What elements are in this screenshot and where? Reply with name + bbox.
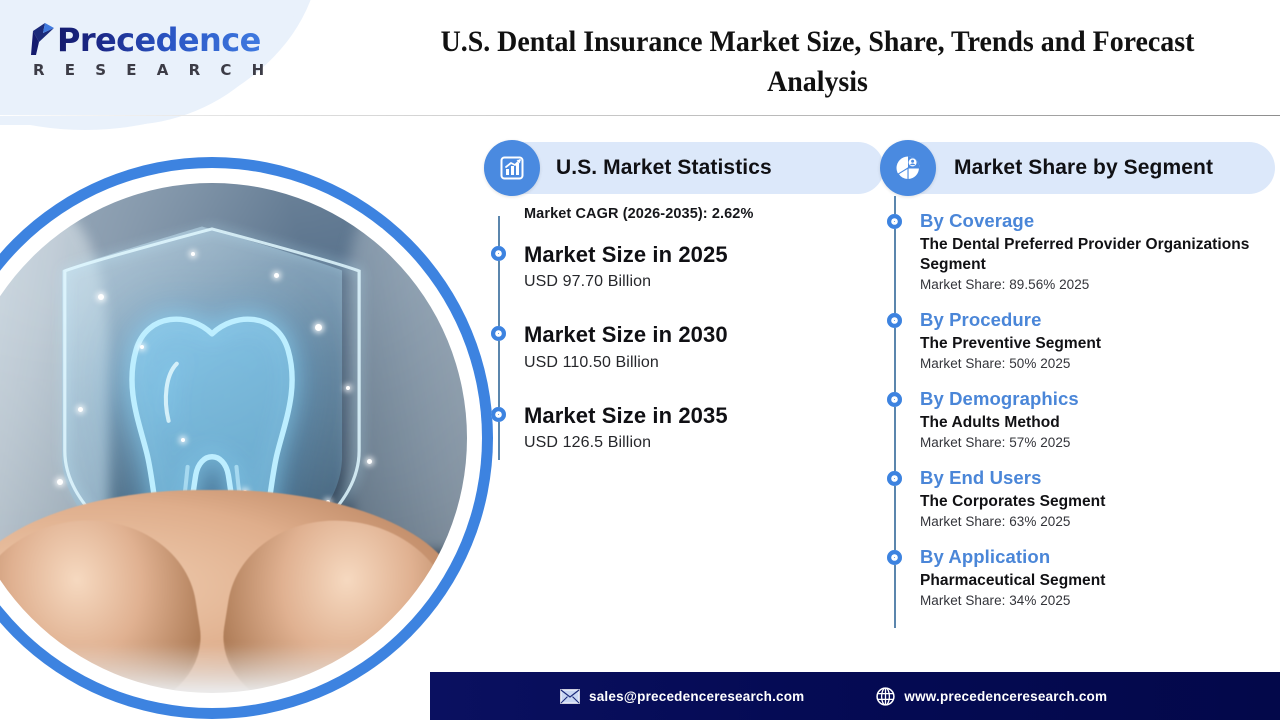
brand-logo[interactable]: Precedence R E S E A R C H xyxy=(30,22,290,79)
market-size-label: Market Size in 2025 xyxy=(524,242,884,267)
market-cagr-note: Market CAGR (2026-2035): 2.62% xyxy=(484,206,884,222)
market-statistics-header: U.S. Market Statistics xyxy=(484,142,884,194)
market-size-item: Market Size in 2035 USD 126.5 Billion xyxy=(484,403,884,452)
segment-share: Market Share: 34% 2025 xyxy=(920,593,1275,608)
footer-email-text: sales@precedenceresearch.com xyxy=(589,689,804,704)
segment-item: By Procedure The Preventive Segment Mark… xyxy=(880,309,1275,371)
bar-chart-growth-icon xyxy=(484,140,540,196)
segment-share: Market Share: 50% 2025 xyxy=(920,356,1275,371)
globe-icon xyxy=(876,687,895,706)
segment-share: Market Share: 57% 2025 xyxy=(920,435,1275,450)
bullet-icon xyxy=(491,407,506,422)
segment-item: By Application Pharmaceutical Segment Ma… xyxy=(880,546,1275,608)
footer-email[interactable]: sales@precedenceresearch.com xyxy=(560,689,804,704)
segment-leader: The Corporates Segment xyxy=(920,492,1275,512)
market-size-value: USD 110.50 Billion xyxy=(524,354,884,372)
logo-wordmark: Precedence xyxy=(30,22,290,56)
segment-leader: The Adults Method xyxy=(920,413,1275,433)
hero-image-circle xyxy=(0,168,482,708)
market-share-header: Market Share by Segment xyxy=(880,142,1275,194)
market-size-item: Market Size in 2030 USD 110.50 Billion xyxy=(484,322,884,371)
market-size-value: USD 97.70 Billion xyxy=(524,273,884,291)
segment-category: By Demographics xyxy=(920,388,1275,410)
logo-name: Precedence xyxy=(57,24,261,56)
bullet-icon xyxy=(887,214,902,229)
pie-chart-icon xyxy=(880,140,936,196)
bullet-icon xyxy=(491,246,506,261)
segment-item: By Demographics The Adults Method Market… xyxy=(880,388,1275,450)
market-size-list: Market Size in 2025 USD 97.70 Billion Ma… xyxy=(484,242,884,452)
market-size-label: Market Size in 2030 xyxy=(524,322,884,347)
bullet-icon xyxy=(887,392,902,407)
footer-website[interactable]: www.precedenceresearch.com xyxy=(876,687,1107,706)
header: Precedence R E S E A R C H U.S. Dental I… xyxy=(0,0,1280,116)
segment-item: By End Users The Corporates Segment Mark… xyxy=(880,467,1275,529)
bullet-icon xyxy=(491,326,506,341)
market-size-value: USD 126.5 Billion xyxy=(524,434,884,452)
segment-category: By Coverage xyxy=(920,210,1275,232)
precedence-leaf-icon xyxy=(30,22,56,56)
segment-share: Market Share: 89.56% 2025 xyxy=(920,277,1275,292)
page-title: U.S. Dental Insurance Market Size, Share… xyxy=(425,22,1211,102)
footer-bar: sales@precedenceresearch.com www.precede… xyxy=(430,672,1280,720)
segment-category: By Procedure xyxy=(920,309,1275,331)
segment-category: By Application xyxy=(920,546,1275,568)
market-statistics-title: U.S. Market Statistics xyxy=(556,156,772,180)
market-share-title: Market Share by Segment xyxy=(954,156,1213,180)
photo-bottom-fade xyxy=(0,644,470,696)
market-share-panel: Market Share by Segment By Coverage The … xyxy=(880,142,1275,608)
header-divider xyxy=(0,115,1280,116)
segment-leader: The Dental Preferred Provider Organizati… xyxy=(920,235,1275,275)
market-size-label: Market Size in 2035 xyxy=(524,403,884,428)
segment-share: Market Share: 63% 2025 xyxy=(920,514,1275,529)
infographic-canvas: Precedence R E S E A R C H U.S. Dental I… xyxy=(0,0,1280,720)
logo-subtitle: R E S E A R C H xyxy=(33,61,290,79)
market-size-item: Market Size in 2025 USD 97.70 Billion xyxy=(484,242,884,291)
dental-shield-photo xyxy=(0,180,470,696)
footer-website-text: www.precedenceresearch.com xyxy=(904,689,1107,704)
segment-item: By Coverage The Dental Preferred Provide… xyxy=(880,210,1275,292)
bullet-icon xyxy=(887,550,902,565)
segment-category: By End Users xyxy=(920,467,1275,489)
bullet-icon xyxy=(887,471,902,486)
market-statistics-panel: U.S. Market Statistics Market CAGR (2026… xyxy=(484,142,884,452)
bullet-icon xyxy=(887,313,902,328)
segment-leader: The Preventive Segment xyxy=(920,334,1275,354)
envelope-icon xyxy=(560,689,580,704)
segment-leader: Pharmaceutical Segment xyxy=(920,571,1275,591)
segment-list: By Coverage The Dental Preferred Provide… xyxy=(880,210,1275,608)
